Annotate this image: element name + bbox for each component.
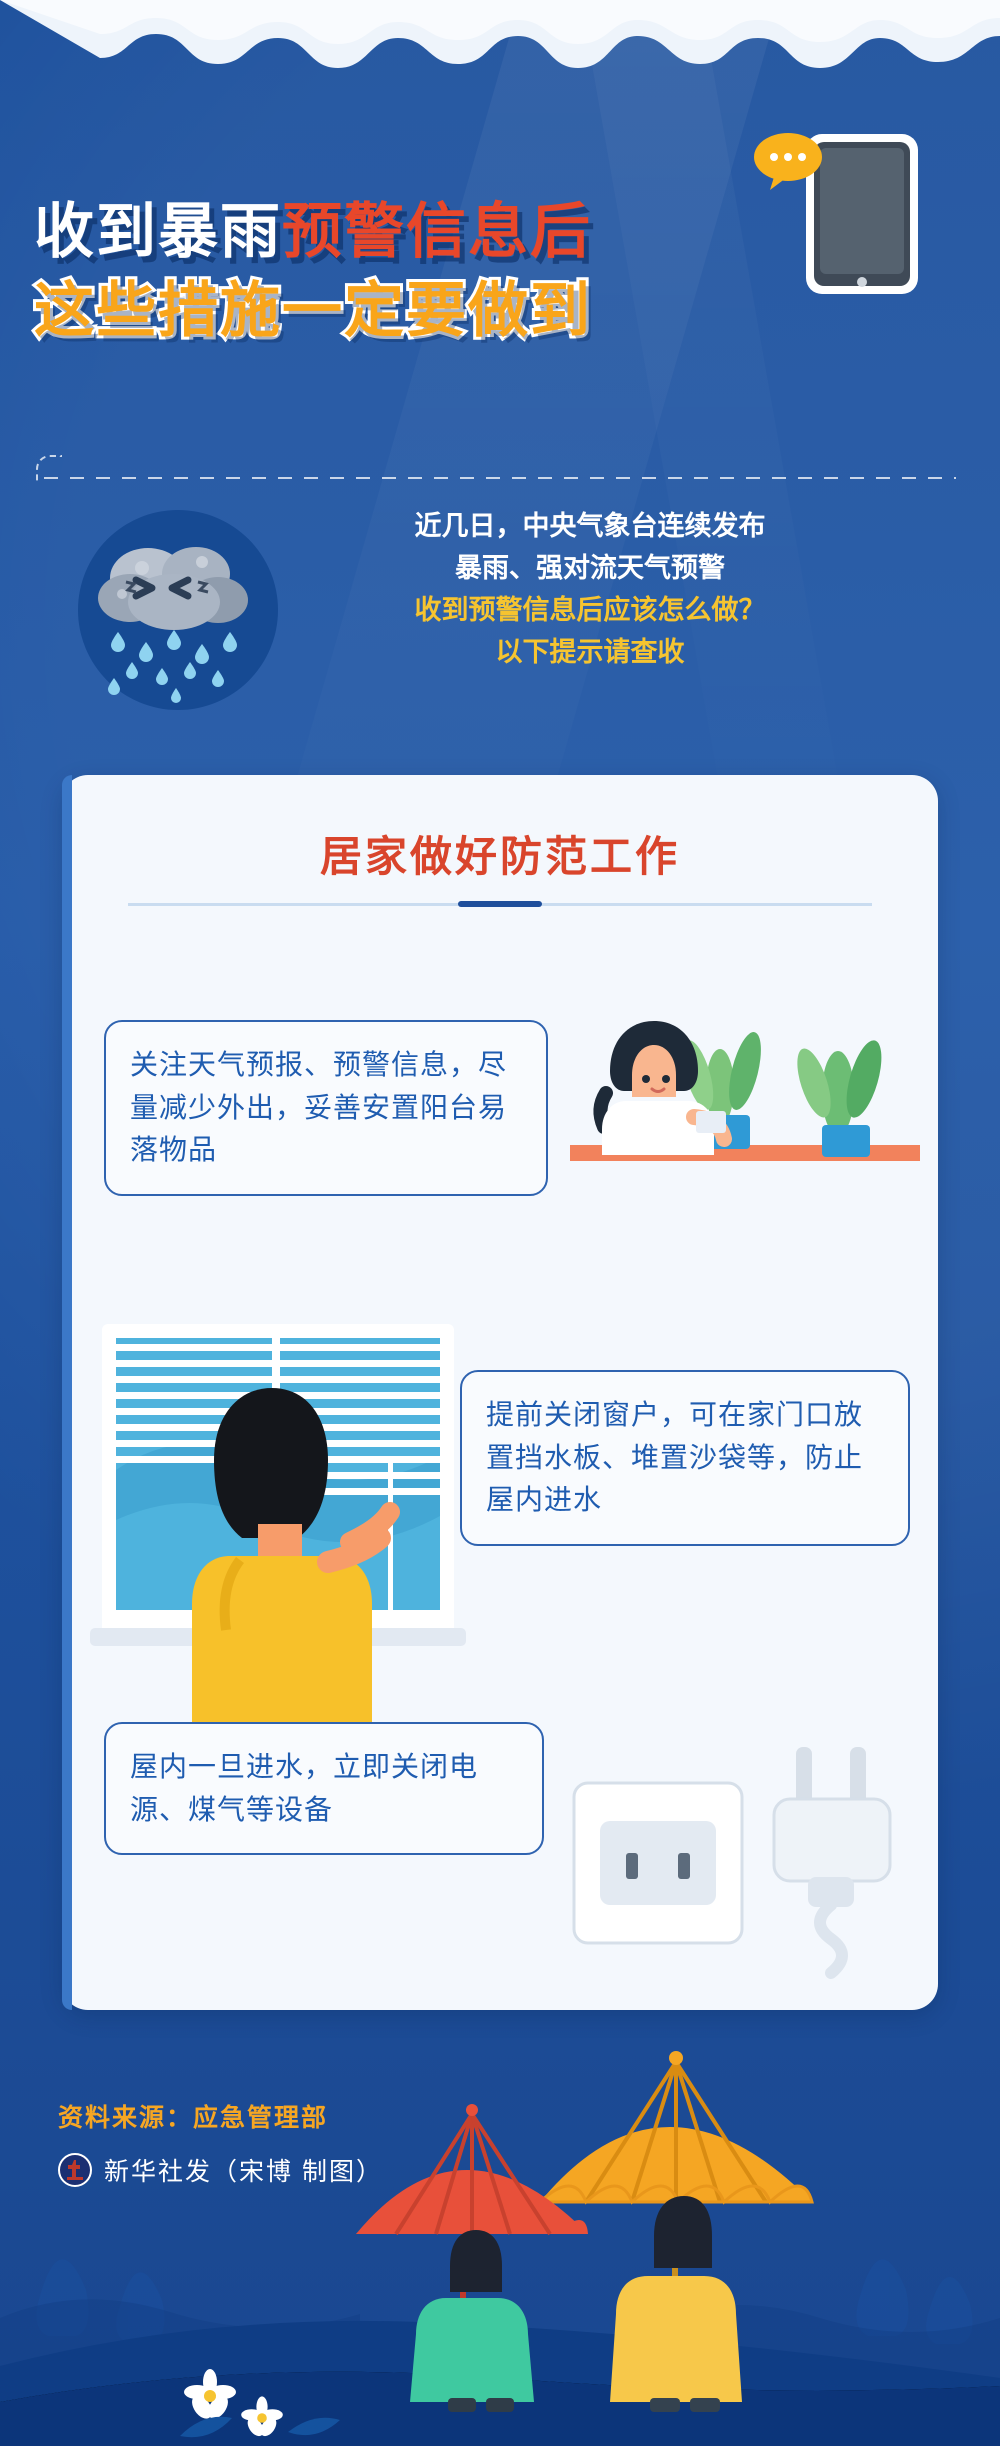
- title-line-2: 这些措施一定要做到: [34, 279, 854, 344]
- title-line-1: 收到暴雨预警信息后: [34, 200, 854, 265]
- woman-with-plants-illustration: [570, 975, 920, 1205]
- card-heading-rule-accent: [458, 901, 542, 907]
- tip-box-3: 屋内一旦进水，立即关闭电源、煤气等设备: [104, 1722, 544, 1855]
- woman-closing-window-illustration: [82, 1310, 482, 1730]
- tip-box-1: 关注天气预报、预警信息，尽量减少外出，妥善安置阳台易落物品: [104, 1020, 548, 1196]
- tip-box-2: 提前关闭窗户，可在家门口放置挡水板、堆置沙袋等，防止屋内进水: [460, 1370, 910, 1546]
- title-block: 收到暴雨预警信息后 这些措施一定要做到: [34, 200, 854, 344]
- dashed-divider: [44, 477, 956, 479]
- chat-bubble-icon: [752, 132, 824, 190]
- power-socket-plug-illustration: [560, 1735, 930, 1985]
- tip-text-2: 提前关闭窗户，可在家门口放置挡水板、堆置沙袋等，防止屋内进水: [486, 1399, 863, 1515]
- intro-line-3: 收到预警信息后应该怎么做？: [330, 589, 850, 631]
- intro-line-4: 以下提示请查收: [330, 631, 850, 673]
- intro-line-2: 暴雨、强对流天气预警: [330, 547, 850, 589]
- cloud-banner-icon: [0, 0, 1000, 120]
- xinhua-logo: [58, 2153, 92, 2187]
- intro-paragraph: 近几日，中央气象台连续发布 暴雨、强对流天气预警 收到预警信息后应该怎么做？ 以…: [330, 505, 850, 673]
- title-line-1-white: 收到暴雨: [34, 198, 282, 265]
- tip-text-1: 关注天气预报、预警信息，尽量减少外出，妥善安置阳台易落物品: [130, 1049, 507, 1165]
- intro-line-1: 近几日，中央气象台连续发布: [330, 505, 850, 547]
- people-with-umbrellas-illustration: [0, 1966, 1000, 2446]
- card-left-accent-bar: [62, 775, 72, 2010]
- tip-text-3: 屋内一旦进水，立即关闭电源、煤气等设备: [130, 1751, 478, 1825]
- card-heading: 居家做好防范工作: [62, 823, 938, 884]
- rain-cloud-icon: [78, 510, 278, 710]
- credit-line: 新华社发（宋博 制图）: [58, 2152, 383, 2188]
- credit-text: 新华社发（宋博 制图）: [104, 2152, 383, 2188]
- source-line: 资料来源：应急管理部: [58, 2098, 328, 2134]
- title-line-1-highlight: 预警信息后: [282, 198, 592, 265]
